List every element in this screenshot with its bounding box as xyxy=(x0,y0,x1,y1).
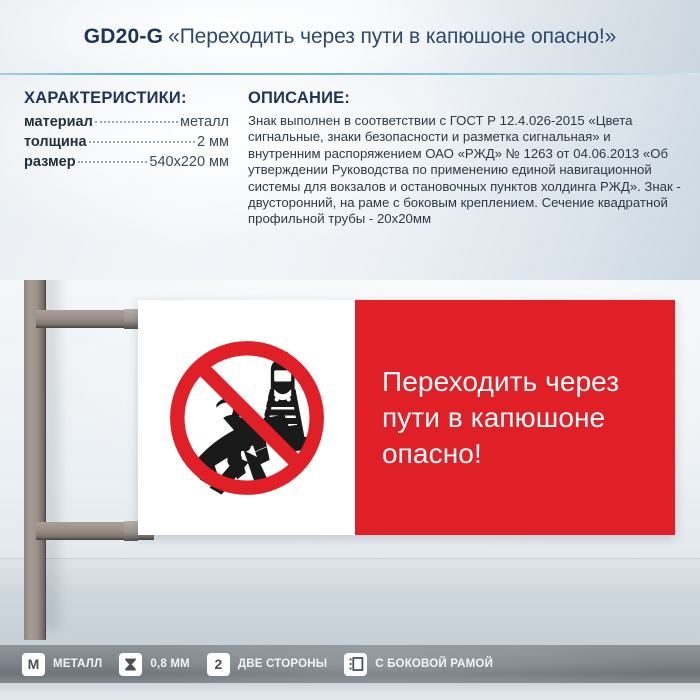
floor-surface xyxy=(0,558,700,645)
product-photo: Переходить через пути в капюшоне опасно! xyxy=(0,280,700,645)
sign-pictogram-panel xyxy=(138,300,355,535)
footer-label-sides: ДВЕ СТОРОНЫ xyxy=(238,658,327,670)
mounting-pole xyxy=(24,280,46,640)
info-section: ХАРАКТЕРИСТИКИ: материал металл толщина … xyxy=(0,75,700,280)
description-heading: ОПИСАНИЕ: xyxy=(248,89,684,108)
dot-leader xyxy=(95,121,178,123)
characteristic-row: материал металл xyxy=(24,114,229,130)
sign-warning-text: Переходить через пути в капюшоне опасно! xyxy=(382,364,675,472)
footer-area: M МЕТАЛЛ 0,8 ММ 2 ДВЕ СТОРОНЫ xyxy=(0,645,700,700)
sign-text-panel: Переходить через пути в капюшоне опасно! xyxy=(355,300,675,535)
footer-item-sides: 2 ДВЕ СТОРОНЫ xyxy=(207,653,327,676)
metal-icon: M xyxy=(22,653,45,676)
characteristics-block: ХАРАКТЕРИСТИКИ: материал металл толщина … xyxy=(24,89,229,174)
characteristic-value: 2 мм xyxy=(197,134,229,150)
page-title: GD20-G «Переходить через пути в капюшоне… xyxy=(0,0,700,73)
no-crossing-tracks-hood-pictogram xyxy=(162,333,332,503)
dot-leader xyxy=(89,141,195,143)
footer-label-material: МЕТАЛЛ xyxy=(53,658,102,670)
characteristics-heading: ХАРАКТЕРИСТИКИ: xyxy=(24,89,229,108)
product-name: «Переходить через пути в капюшоне опасно… xyxy=(168,25,616,49)
header-bar: GD20-G «Переходить через пути в капюшоне… xyxy=(0,0,700,75)
footer-label-frame: С БОКОВОЙ РАМОЙ xyxy=(375,658,493,670)
side-frame-icon-glyph xyxy=(348,656,364,672)
floor-wall-edge xyxy=(0,558,700,559)
characteristic-value: металл xyxy=(180,114,229,130)
product-code: GD20-G xyxy=(84,25,163,49)
characteristic-label: толщина xyxy=(24,134,87,150)
spec-footer-bar: M МЕТАЛЛ 0,8 ММ 2 ДВЕ СТОРОНЫ xyxy=(0,645,700,683)
thickness-icon xyxy=(119,653,142,676)
two-sides-icon: 2 xyxy=(207,653,230,676)
characteristic-value: 540х220 мм xyxy=(149,154,229,170)
footer-item-material: M МЕТАЛЛ xyxy=(22,653,102,676)
characteristic-row: размер 540х220 мм xyxy=(24,154,229,170)
characteristic-row: толщина 2 мм xyxy=(24,134,229,150)
thickness-icon-glyph xyxy=(123,657,138,672)
sign-bracket-top xyxy=(124,309,138,329)
description-block: ОПИСАНИЕ: Знак выполнен в соответствии с… xyxy=(248,89,684,228)
dot-leader xyxy=(78,161,148,163)
description-text: Знак выполнен в соответствии с ГОСТ Р 12… xyxy=(248,113,684,228)
footer-item-frame: С БОКОВОЙ РАМОЙ xyxy=(344,653,493,676)
two-sides-icon-glyph: 2 xyxy=(214,657,222,671)
characteristic-label: размер xyxy=(24,154,76,170)
characteristic-label: материал xyxy=(24,114,93,130)
footer-bottom-strip xyxy=(0,683,700,700)
sign-bracket-bottom xyxy=(124,521,138,541)
safety-sign: Переходить через пути в капюшоне опасно! xyxy=(138,300,675,535)
product-card: GD20-G «Переходить через пути в капюшоне… xyxy=(0,0,700,700)
footer-item-thickness: 0,8 ММ xyxy=(119,653,190,676)
footer-label-thickness: 0,8 ММ xyxy=(150,658,190,670)
metal-icon-glyph: M xyxy=(28,657,40,671)
side-frame-icon xyxy=(344,653,367,676)
